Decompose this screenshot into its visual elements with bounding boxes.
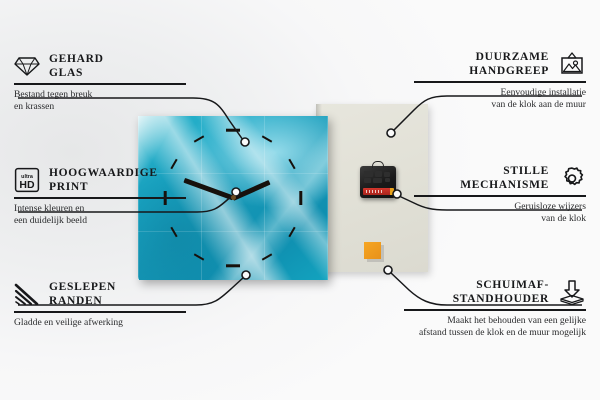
battery <box>363 188 392 195</box>
callout-duurzame-handgreep[interactable]: DUURZAME HANDGREEP Eenvoudige installati… <box>414 50 586 112</box>
callout-rule <box>14 311 186 313</box>
spacer-arrow-icon <box>558 279 586 305</box>
callout-rule <box>14 83 186 85</box>
movement-knobs <box>364 171 392 184</box>
callout-header: ultra HD HOOGWAARDIGE PRINT <box>14 166 186 194</box>
callout-geslepen-randen[interactable]: GESLEPEN RANDEN Gladde en veilige afwerk… <box>14 280 186 329</box>
hands-pin <box>231 195 236 200</box>
callout-rule <box>404 309 586 311</box>
hour-tick <box>226 129 240 132</box>
callout-header: STILLE MECHANISME <box>414 164 586 192</box>
callout-desc: Gladde en veilige afwerking <box>14 317 186 330</box>
callout-desc: Intense kleuren en een duidelijk beeld <box>14 203 186 229</box>
callout-desc: Maakt het behouden van een gelijke afsta… <box>404 315 586 341</box>
callout-hoogwaardige-print[interactable]: ultra HD HOOGWAARDIGE PRINT Intense kleu… <box>14 166 186 228</box>
callout-rule <box>414 81 586 83</box>
callout-rule <box>414 195 586 197</box>
callout-desc: Geruisloze wijzers van de klok <box>414 201 586 227</box>
callout-gehard-glas[interactable]: GEHARD GLAS Bestand tegen breuk en krass… <box>14 52 186 114</box>
callout-desc: Bestand tegen breuk en krassen <box>14 89 186 115</box>
callout-header: GESLEPEN RANDEN <box>14 280 186 308</box>
infographic-stage: GEHARD GLAS Bestand tegen breuk en krass… <box>0 0 600 400</box>
callout-title: GESLEPEN RANDEN <box>49 280 116 308</box>
callout-title: HOOGWAARDIGE PRINT <box>49 166 158 194</box>
foam-spacer-pad <box>364 242 381 259</box>
callout-title: SCHUIMAF- STANDHOUDER <box>453 278 549 306</box>
picture-frame-icon <box>558 51 586 77</box>
svg-text:HD: HD <box>19 179 35 191</box>
diamond-icon <box>14 55 40 77</box>
callout-title: DUURZAME HANDGREEP <box>469 50 549 78</box>
callout-title: STILLE MECHANISME <box>460 164 549 192</box>
callout-header: SCHUIMAF- STANDHOUDER <box>404 278 586 306</box>
callout-header: DUURZAME HANDGREEP <box>414 50 586 78</box>
beveled-edges-icon <box>14 282 40 306</box>
callout-title: GEHARD GLAS <box>49 52 104 80</box>
hour-tick <box>300 191 303 205</box>
wall-back-panel <box>316 104 428 272</box>
movement-hanger <box>372 161 384 168</box>
callout-schuimafstandhouder[interactable]: SCHUIMAF- STANDHOUDER Maakt het behouden… <box>404 278 586 340</box>
hour-tick <box>226 265 240 268</box>
gear-icon <box>558 165 586 192</box>
callout-rule <box>14 197 186 199</box>
ultra-hd-icon: ultra HD <box>14 167 40 193</box>
callout-desc: Eenvoudige installatie van de klok aan d… <box>414 87 586 113</box>
callout-header: GEHARD GLAS <box>14 52 186 80</box>
callout-stille-mechanisme[interactable]: STILLE MECHANISME Geruisloze wijzers van… <box>414 164 586 226</box>
clock-movement <box>360 166 396 198</box>
